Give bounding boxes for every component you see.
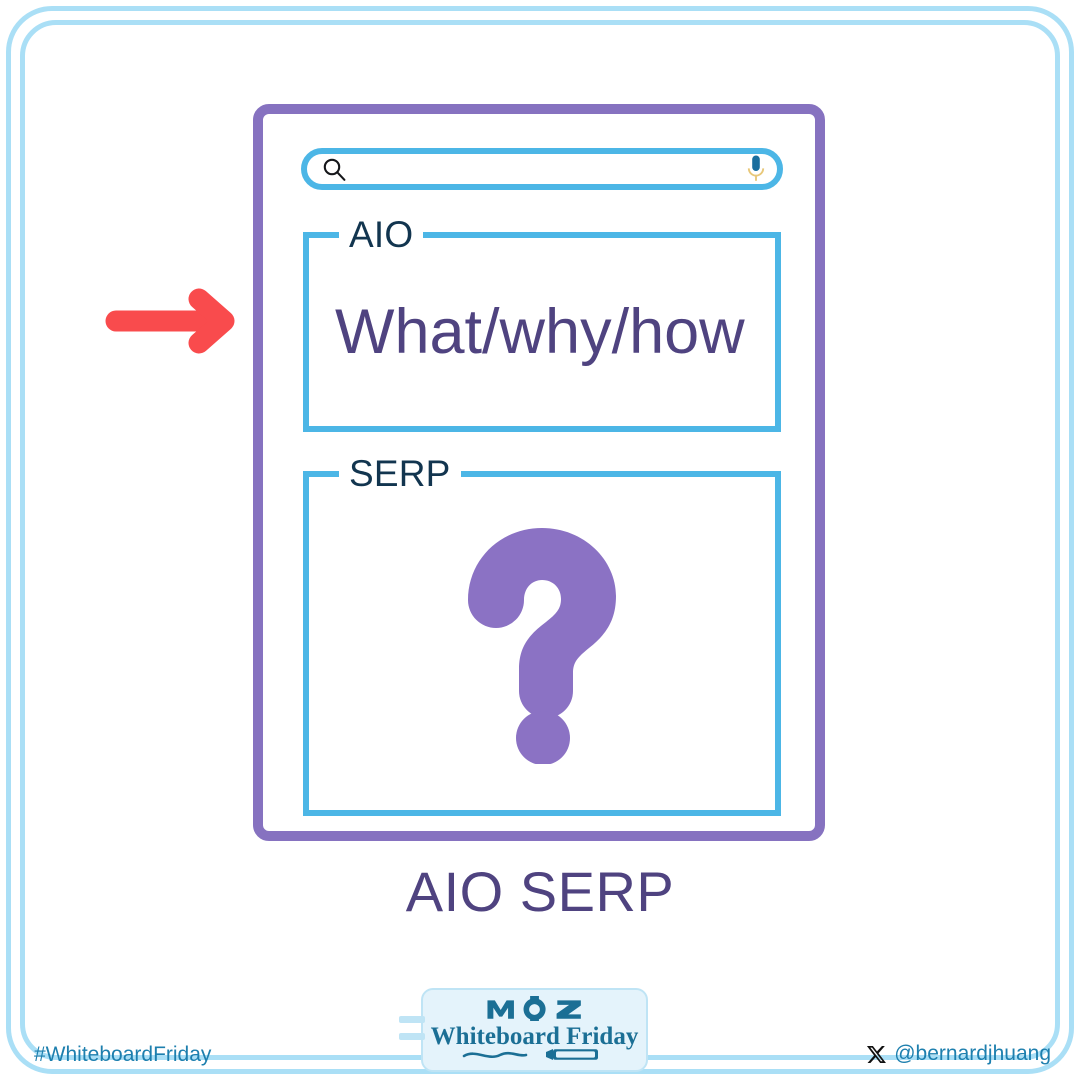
serp-section-label: SERP bbox=[339, 452, 461, 496]
search-input[interactable] bbox=[301, 148, 783, 190]
serp-section-box: SERP bbox=[303, 471, 781, 816]
aio-section-label: AIO bbox=[339, 213, 423, 257]
microphone-icon[interactable] bbox=[747, 155, 765, 183]
badge-tab-lower bbox=[399, 1033, 425, 1040]
social-handle[interactable]: @bernardjhuang bbox=[866, 1041, 1051, 1067]
whiteboard-canvas: AIO What/why/how SERP AIO SERP bbox=[0, 0, 1080, 1080]
squiggle-underline-icon bbox=[464, 1053, 526, 1057]
hashtag-label: #WhiteboardFriday bbox=[34, 1042, 211, 1068]
aio-serp-device-mockup: AIO What/why/how SERP bbox=[253, 104, 825, 841]
search-icon bbox=[321, 156, 347, 182]
right-arrow-icon bbox=[104, 288, 238, 354]
question-mark-icon bbox=[462, 524, 622, 764]
moz-logo bbox=[423, 996, 646, 1024]
aio-answer-text: What/why/how bbox=[335, 297, 745, 367]
x-twitter-icon bbox=[866, 1044, 887, 1065]
social-handle-text: @bernardjhuang bbox=[894, 1041, 1051, 1067]
moz-whiteboard-friday-badge: Whiteboard Friday bbox=[421, 988, 648, 1072]
marker-pen-icon bbox=[546, 1049, 598, 1060]
badge-tab-upper bbox=[399, 1016, 425, 1023]
badge-decoration bbox=[423, 1047, 646, 1063]
page-title: AIO SERP bbox=[0, 857, 1080, 927]
aio-section-box: AIO What/why/how bbox=[303, 232, 781, 432]
